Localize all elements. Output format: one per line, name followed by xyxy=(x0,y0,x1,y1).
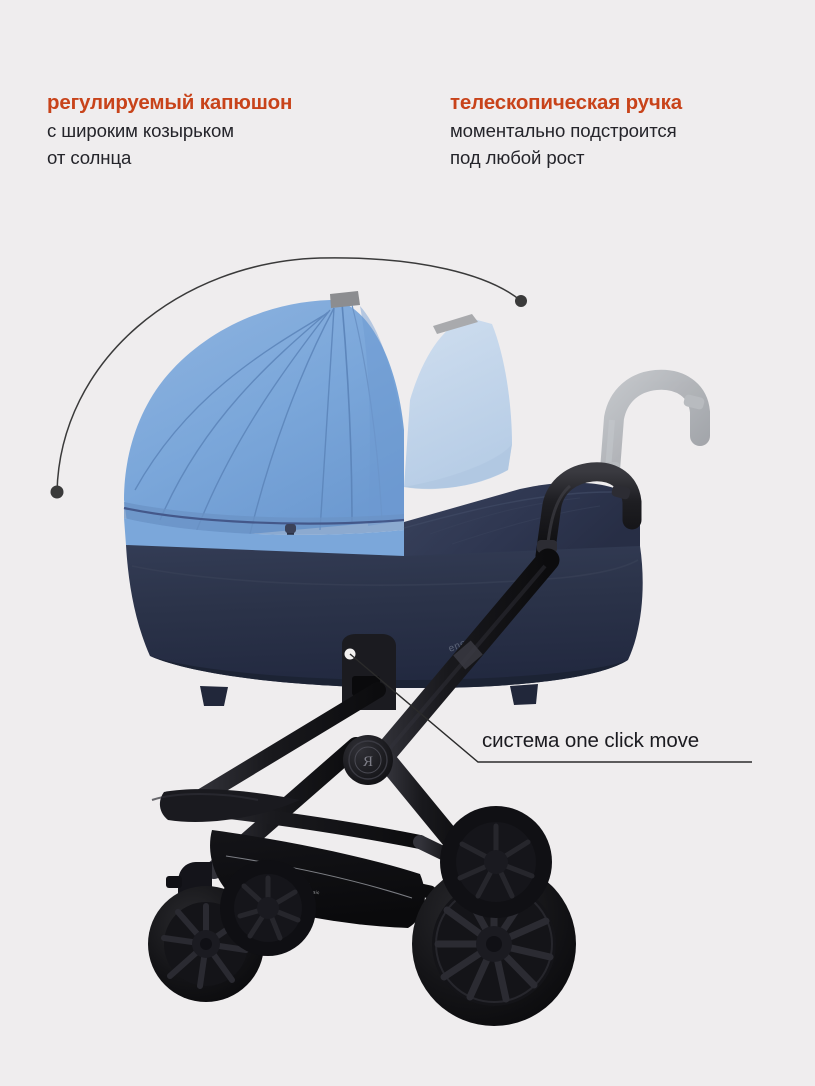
feature-title-hood: регулируемый капюшон xyxy=(47,89,292,117)
feature-desc-handle-line2: под любой рост xyxy=(450,144,682,171)
feature-desc-hood-line2: от солнца xyxy=(47,144,292,171)
promo-page: energy xyxy=(0,0,815,1086)
feature-desc-hood-line1: с широким козырьком xyxy=(47,117,292,144)
caption-one-click-move: система one click move xyxy=(482,729,699,753)
feature-title-handle: телескопическая ручка xyxy=(450,89,682,117)
rear-wheel-far xyxy=(440,806,552,918)
front-wheel-far xyxy=(220,860,316,956)
handle-ghost-extension xyxy=(598,380,705,474)
feature-telescopic-handle: телескопическая ручка моментально подстр… xyxy=(450,89,682,171)
feature-desc-handle-line1: моментально подстроится xyxy=(450,117,682,144)
hub-logo: Я xyxy=(363,754,373,770)
feature-adjustable-hood: регулируемый капюшон с широким козырьком… xyxy=(47,89,292,171)
